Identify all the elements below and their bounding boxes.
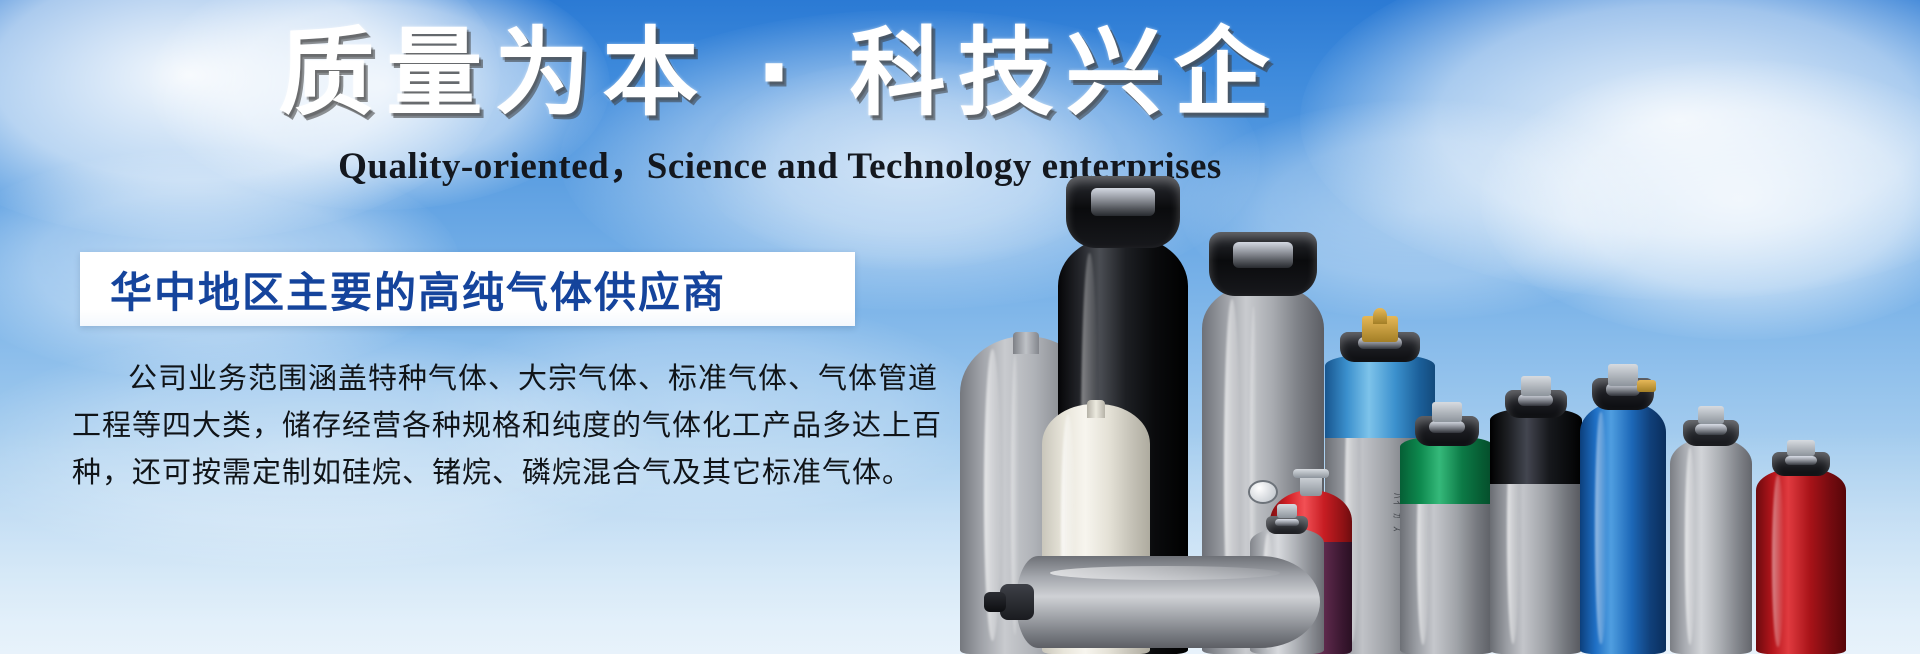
lying-grey-cylinder [990, 556, 1320, 648]
brass-valve-stem [1373, 308, 1386, 324]
paragraph-line: 种，还可按需定制如硅烷、锗烷、磷烷混合气及其它标准气体。 [72, 449, 862, 496]
valve-knob [1608, 364, 1639, 386]
cylinder-green-band [1400, 436, 1494, 504]
silver-slim-cylinder [1670, 396, 1752, 654]
cylinder-black-band [1490, 408, 1582, 484]
cylinder-cap [1266, 516, 1307, 534]
black-silver-cylinder [1490, 362, 1582, 654]
valve-handle [1293, 469, 1329, 478]
subtitle-text: 华中地区主要的高纯气体供应商 [80, 259, 726, 320]
cylinder-cap [1209, 232, 1316, 296]
valve-knob [1277, 504, 1298, 518]
valve-knob [1698, 406, 1724, 424]
green-silver-cylinder [1400, 392, 1494, 654]
cylinder-cap [984, 592, 1006, 612]
valve-knob [1432, 402, 1462, 422]
gas-cylinder-product-group: ﾊｲ ｶﾞｽ [930, 100, 1920, 654]
valve-knob [1787, 440, 1816, 456]
blue-slim-cylinder [1580, 354, 1666, 654]
brass-fitting [1637, 380, 1656, 392]
subtitle-box: 华中地区主要的高纯气体供应商 [80, 252, 855, 326]
pressure-gauge [1248, 480, 1278, 504]
promotional-banner: 质量为本 · 科技兴企 Quality-oriented，Science and… [0, 0, 1920, 654]
cylinder-cap [1066, 176, 1180, 248]
paragraph-line: 工程等四大类，储存经营各种规格和纯度的气体化工产品多达上百 [72, 402, 862, 449]
valve-knob [1521, 376, 1550, 396]
red-slim-cylinder [1756, 432, 1846, 654]
paragraph-line: 公司业务范围涵盖特种气体、大宗气体、标准气体、气体管道 [72, 355, 862, 402]
description-paragraph: 公司业务范围涵盖特种气体、大宗气体、标准气体、气体管道 工程等四大类，储存经营各… [72, 355, 862, 496]
cylinder-neck [1013, 332, 1039, 354]
cylinder-highlight [1050, 566, 1280, 580]
